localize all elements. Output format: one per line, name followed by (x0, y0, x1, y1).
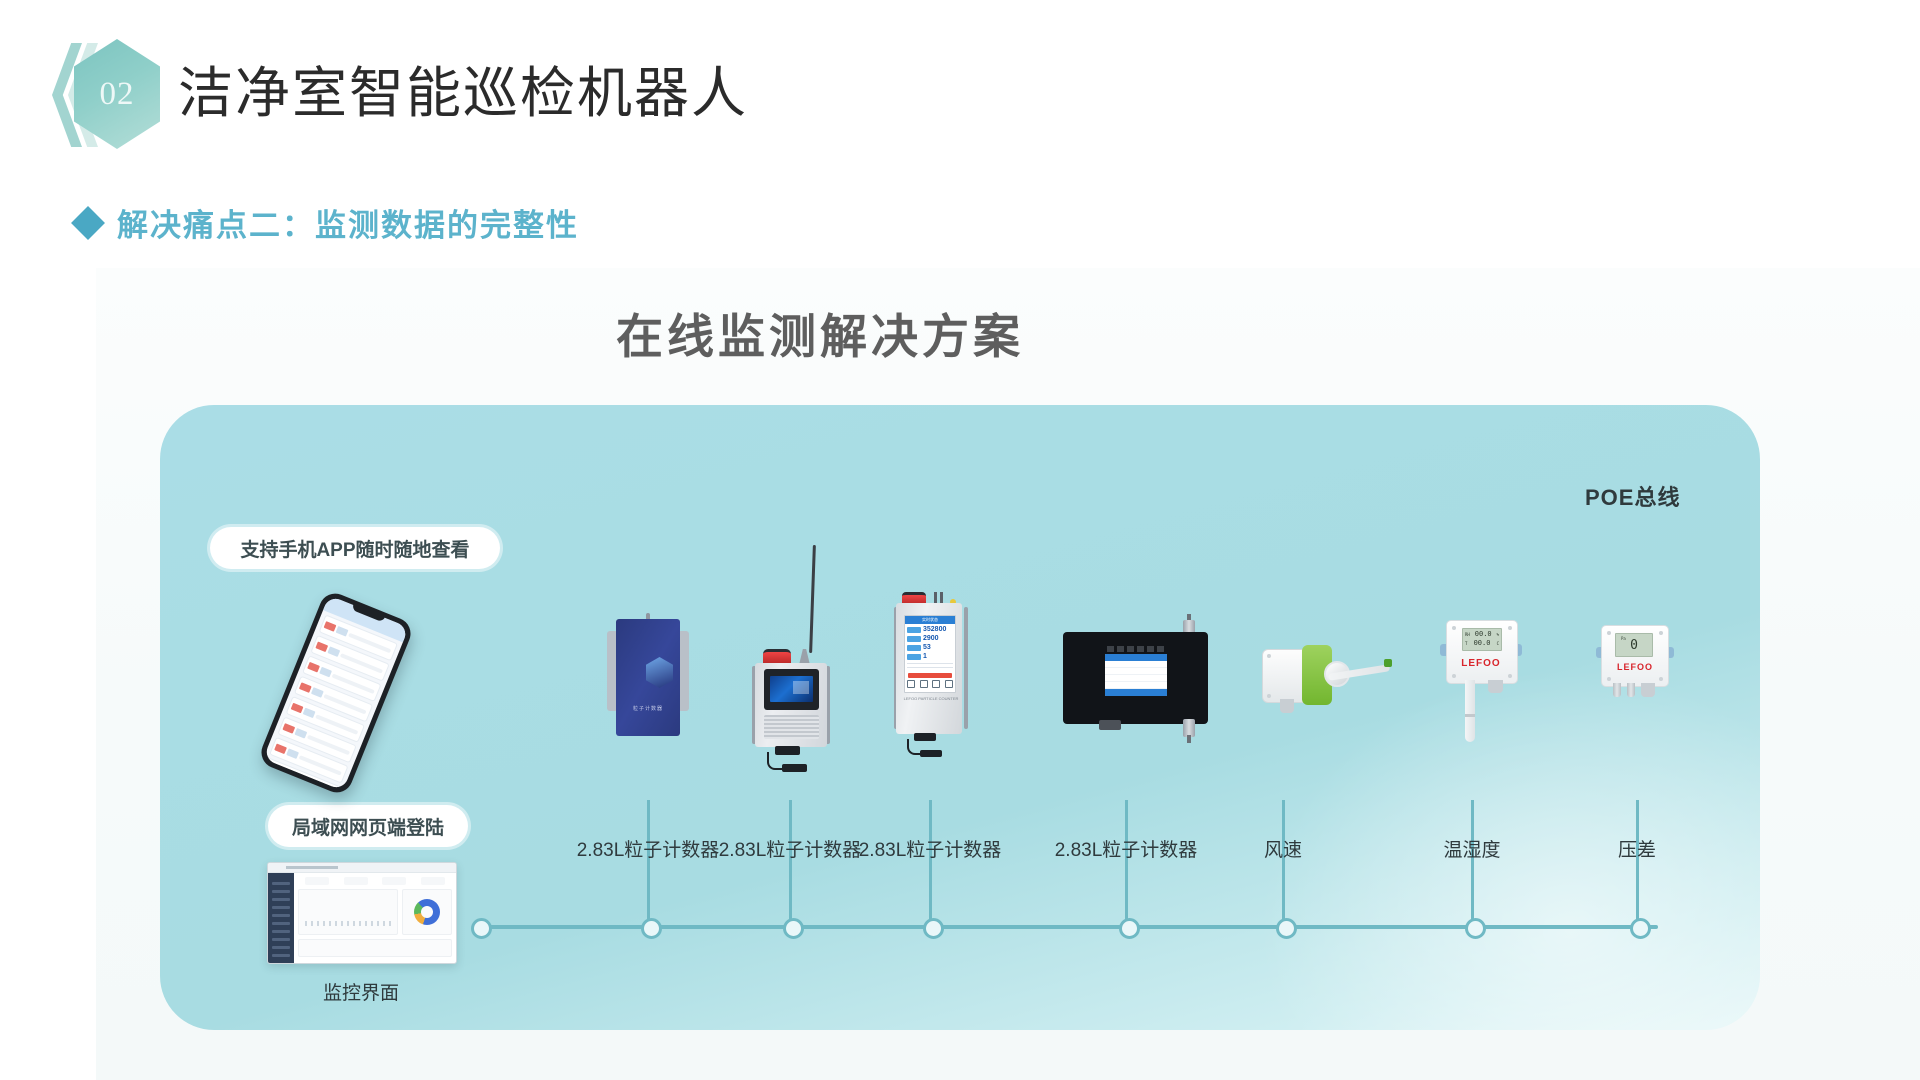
pressure-port (1627, 683, 1635, 697)
brand-logo-lefoo: LEFOO (1595, 662, 1675, 672)
device-caption-print (1107, 646, 1165, 652)
device-screen (1105, 654, 1167, 696)
screen-icon-row (905, 680, 955, 688)
monitor-caption: 监控界面 (323, 978, 399, 1005)
cable-gland (1641, 683, 1655, 697)
pill-web-login: 局域网网页端登陆 (268, 805, 468, 847)
screen-value: 1 (923, 653, 927, 660)
sensor-probe-stem (1465, 680, 1475, 742)
chart-row (298, 889, 452, 935)
device-label-temp-humidity: 温湿度 (1443, 835, 1500, 862)
bus-node-wind (1276, 918, 1297, 939)
lcd-display: RH 00.0 % T 00.0 C (1462, 628, 1502, 651)
device-pressure-sensor: Pa 0 LEFOO (1595, 625, 1675, 711)
screen-data-row: 53 (907, 644, 953, 651)
bus-node-counter-1 (641, 918, 662, 939)
cable-gland (1280, 699, 1294, 713)
slide-header: 02 洁净室智能巡检机器人 解决痛点二：监测数据的完整性 (0, 0, 1920, 195)
cable-gland (1488, 680, 1503, 693)
lcd-row-humidity: RH 00.0 % (1465, 630, 1499, 639)
bus-node-monitor (471, 918, 492, 939)
section-number-badge: 02 (52, 35, 160, 153)
panel-heading: 在线监测解决方案 (0, 298, 1920, 367)
lcd-tag-rh: RH (1465, 630, 1470, 639)
settings-icon (920, 680, 928, 688)
connector-block (782, 764, 807, 772)
screen-data-row: 352800 (907, 626, 953, 633)
subtitle-text: 解决痛点二：监测数据的完整性 (117, 200, 579, 245)
connector-block (920, 750, 942, 757)
device-body: 粒子计数器 (616, 619, 680, 736)
device-label-counter-3: 2.83L粒子计数器 (859, 835, 1002, 862)
lcd-value-rh: 00.0 (1475, 630, 1492, 639)
screen-value: 2900 (923, 635, 939, 642)
screen-header: 实时状态 (905, 616, 955, 624)
lcd-unit-rh: % (1497, 630, 1499, 639)
search-icon (907, 680, 915, 688)
device-caption: LEFOO PARTICLE COUNTER (888, 696, 974, 701)
kpi-card (344, 877, 368, 885)
alert-icon (932, 680, 940, 688)
device-caption: 粒子计数器 (616, 705, 680, 712)
bus-node-pressure (1630, 918, 1651, 939)
bus-node-temp-humidity (1465, 918, 1486, 939)
lcd-display: Pa 0 (1615, 633, 1653, 657)
donut-chart (414, 899, 440, 925)
device-label-counter-4: 2.83L粒子计数器 (1055, 835, 1198, 862)
dashboard-body (268, 873, 456, 964)
dashboard-main (294, 873, 456, 964)
panel-heading-text: 在线监测解决方案 (616, 310, 1024, 363)
pressure-port (1613, 683, 1621, 697)
screen-table (1105, 661, 1167, 689)
kpi-card (305, 877, 329, 885)
section-number: 02 (74, 39, 160, 149)
mounting-bracket (964, 607, 968, 729)
table-pane (298, 939, 452, 957)
antenna-icon (809, 545, 816, 653)
bus-node-counter-2 (783, 918, 804, 939)
device-label-pressure: 压差 (1618, 835, 1656, 862)
lcd-unit-t: C (1497, 639, 1499, 648)
device-label-counter-2: 2.83L粒子计数器 (719, 835, 862, 862)
donut-chart-pane (402, 889, 452, 935)
connector-pin (1187, 735, 1191, 743)
dashboard-sidebar (268, 873, 294, 964)
chart-icon (945, 680, 953, 688)
line-chart-pane (298, 889, 398, 935)
screen-value: 53 (923, 644, 931, 651)
lcd-row-temperature: T 00.0 C (1465, 639, 1499, 648)
hexagon-emblem-icon (646, 657, 673, 688)
browser-titlebar (268, 863, 456, 873)
device-particle-counter-3: 实时状态 352800 2900 53 1 LEFOO PARTICLE COU… (888, 592, 974, 752)
page-title: 洁净室智能巡检机器人 (178, 48, 748, 128)
kpi-card (421, 877, 445, 885)
screen-data-row: 1 (907, 653, 953, 660)
diamond-icon (71, 206, 105, 240)
kpi-row (298, 877, 452, 885)
device-wind-speed-sensor (1262, 637, 1402, 723)
lcd-value-t: 00.0 (1474, 639, 1491, 648)
screen-note-lines (907, 663, 953, 671)
screen-alert-bar (908, 673, 952, 678)
poe-bus-label: POE总线 (1585, 480, 1680, 512)
pill-mobile-app: 支持手机APP随时随地查看 (210, 527, 500, 569)
brand-logo-lefoo: LEFOO (1438, 658, 1524, 669)
device-particle-counter-1: 粒子计数器 (605, 613, 691, 736)
lcd-value-pressure: 0 (1630, 638, 1638, 653)
connector-port (1099, 720, 1121, 730)
screen-header (1105, 654, 1167, 661)
lcd-tag-t: T (1465, 639, 1467, 648)
bus-node-counter-4 (1119, 918, 1140, 939)
screen-data-row: 2900 (907, 635, 953, 642)
air-intake-grill (764, 715, 819, 739)
probe-tip (1384, 659, 1392, 667)
device-label-wind-speed: 风速 (1264, 835, 1302, 862)
subtitle-row: 解决痛点二：监测数据的完整性 (76, 200, 579, 245)
device-temp-humidity-sensor: RH 00.0 % T 00.0 C LEFOO (1438, 620, 1524, 748)
screen-footer (1105, 689, 1167, 696)
device-particle-counter-2 (745, 545, 837, 750)
device-label-counter-1: 2.83L粒子计数器 (577, 835, 720, 862)
monitor-dashboard-mockup (267, 862, 457, 964)
device-particle-counter-4 (1055, 620, 1215, 740)
device-screen: 实时状态 352800 2900 53 1 (904, 615, 956, 693)
lcd-unit-pressure: Pa (1621, 636, 1626, 641)
kpi-card (382, 877, 406, 885)
bus-node-counter-3 (923, 918, 944, 939)
device-screen (770, 676, 813, 702)
screen-value: 352800 (923, 626, 946, 633)
